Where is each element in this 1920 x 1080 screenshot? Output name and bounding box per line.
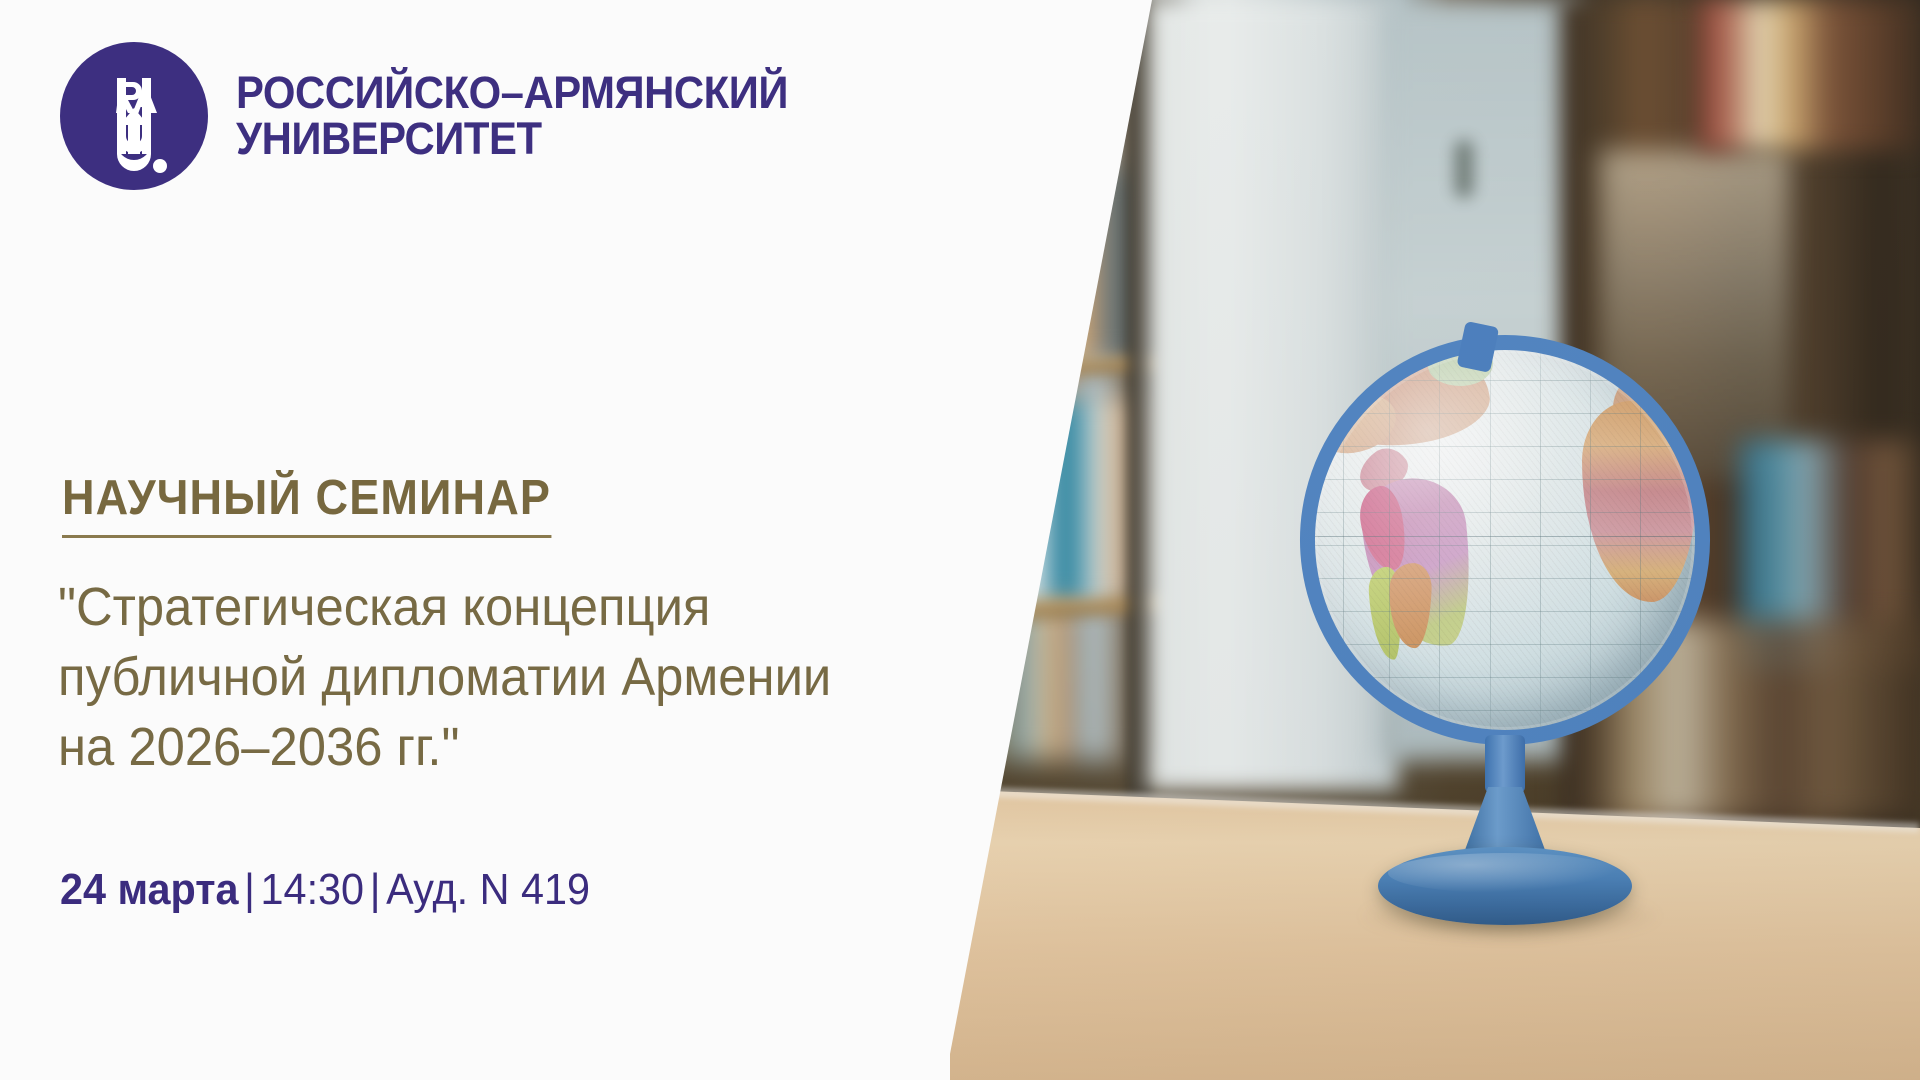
event-time: 14:30 — [261, 865, 365, 914]
content-panel: РОССИЙСКО–АРМЯНСКИЙ УНИВЕРСИТЕТ НАУЧНЫЙ … — [0, 0, 950, 1080]
poster-canvas: РОССИЙСКО–АРМЯНСКИЙ УНИВЕРСИТЕТ НАУЧНЫЙ … — [0, 0, 1920, 1080]
event-title-line-3: на 2026–2036 гг." — [58, 712, 885, 782]
university-name-line1: РОССИЙСКО–АРМЯНСКИЙ — [236, 67, 788, 118]
rau-monogram-icon — [60, 42, 208, 190]
globe-neck — [1485, 735, 1525, 793]
university-name: РОССИЙСКО–АРМЯНСКИЙ УНИВЕРСИТЕТ — [236, 70, 788, 163]
event-title-line-2: публичной дипломатии Армении — [58, 642, 885, 712]
event-kicker: НАУЧНЫЙ СЕМИНАР — [62, 470, 551, 538]
book-spines-upper-right — [1700, 0, 1920, 150]
event-room: Ауд. N 419 — [386, 865, 590, 914]
detail-separator: | — [364, 865, 386, 914]
detail-separator: | — [239, 865, 261, 914]
event-date: 24 марта — [60, 865, 239, 914]
university-branding: РОССИЙСКО–АРМЯНСКИЙ УНИВЕРСИТЕТ — [60, 42, 830, 190]
event-title-line-1: "Стратегическая концепция — [58, 572, 885, 642]
globe-base — [1378, 847, 1632, 925]
university-name-line2: УНИВЕРСИТЕТ — [236, 113, 542, 164]
book-spines-upper-left — [962, 170, 1152, 360]
event-title: "Стратегическая концепция публичной дипл… — [58, 572, 885, 783]
globe — [1300, 335, 1710, 995]
event-details: 24 марта|14:30|Ауд. N 419 — [60, 868, 590, 912]
door-handle-icon — [1455, 140, 1473, 198]
